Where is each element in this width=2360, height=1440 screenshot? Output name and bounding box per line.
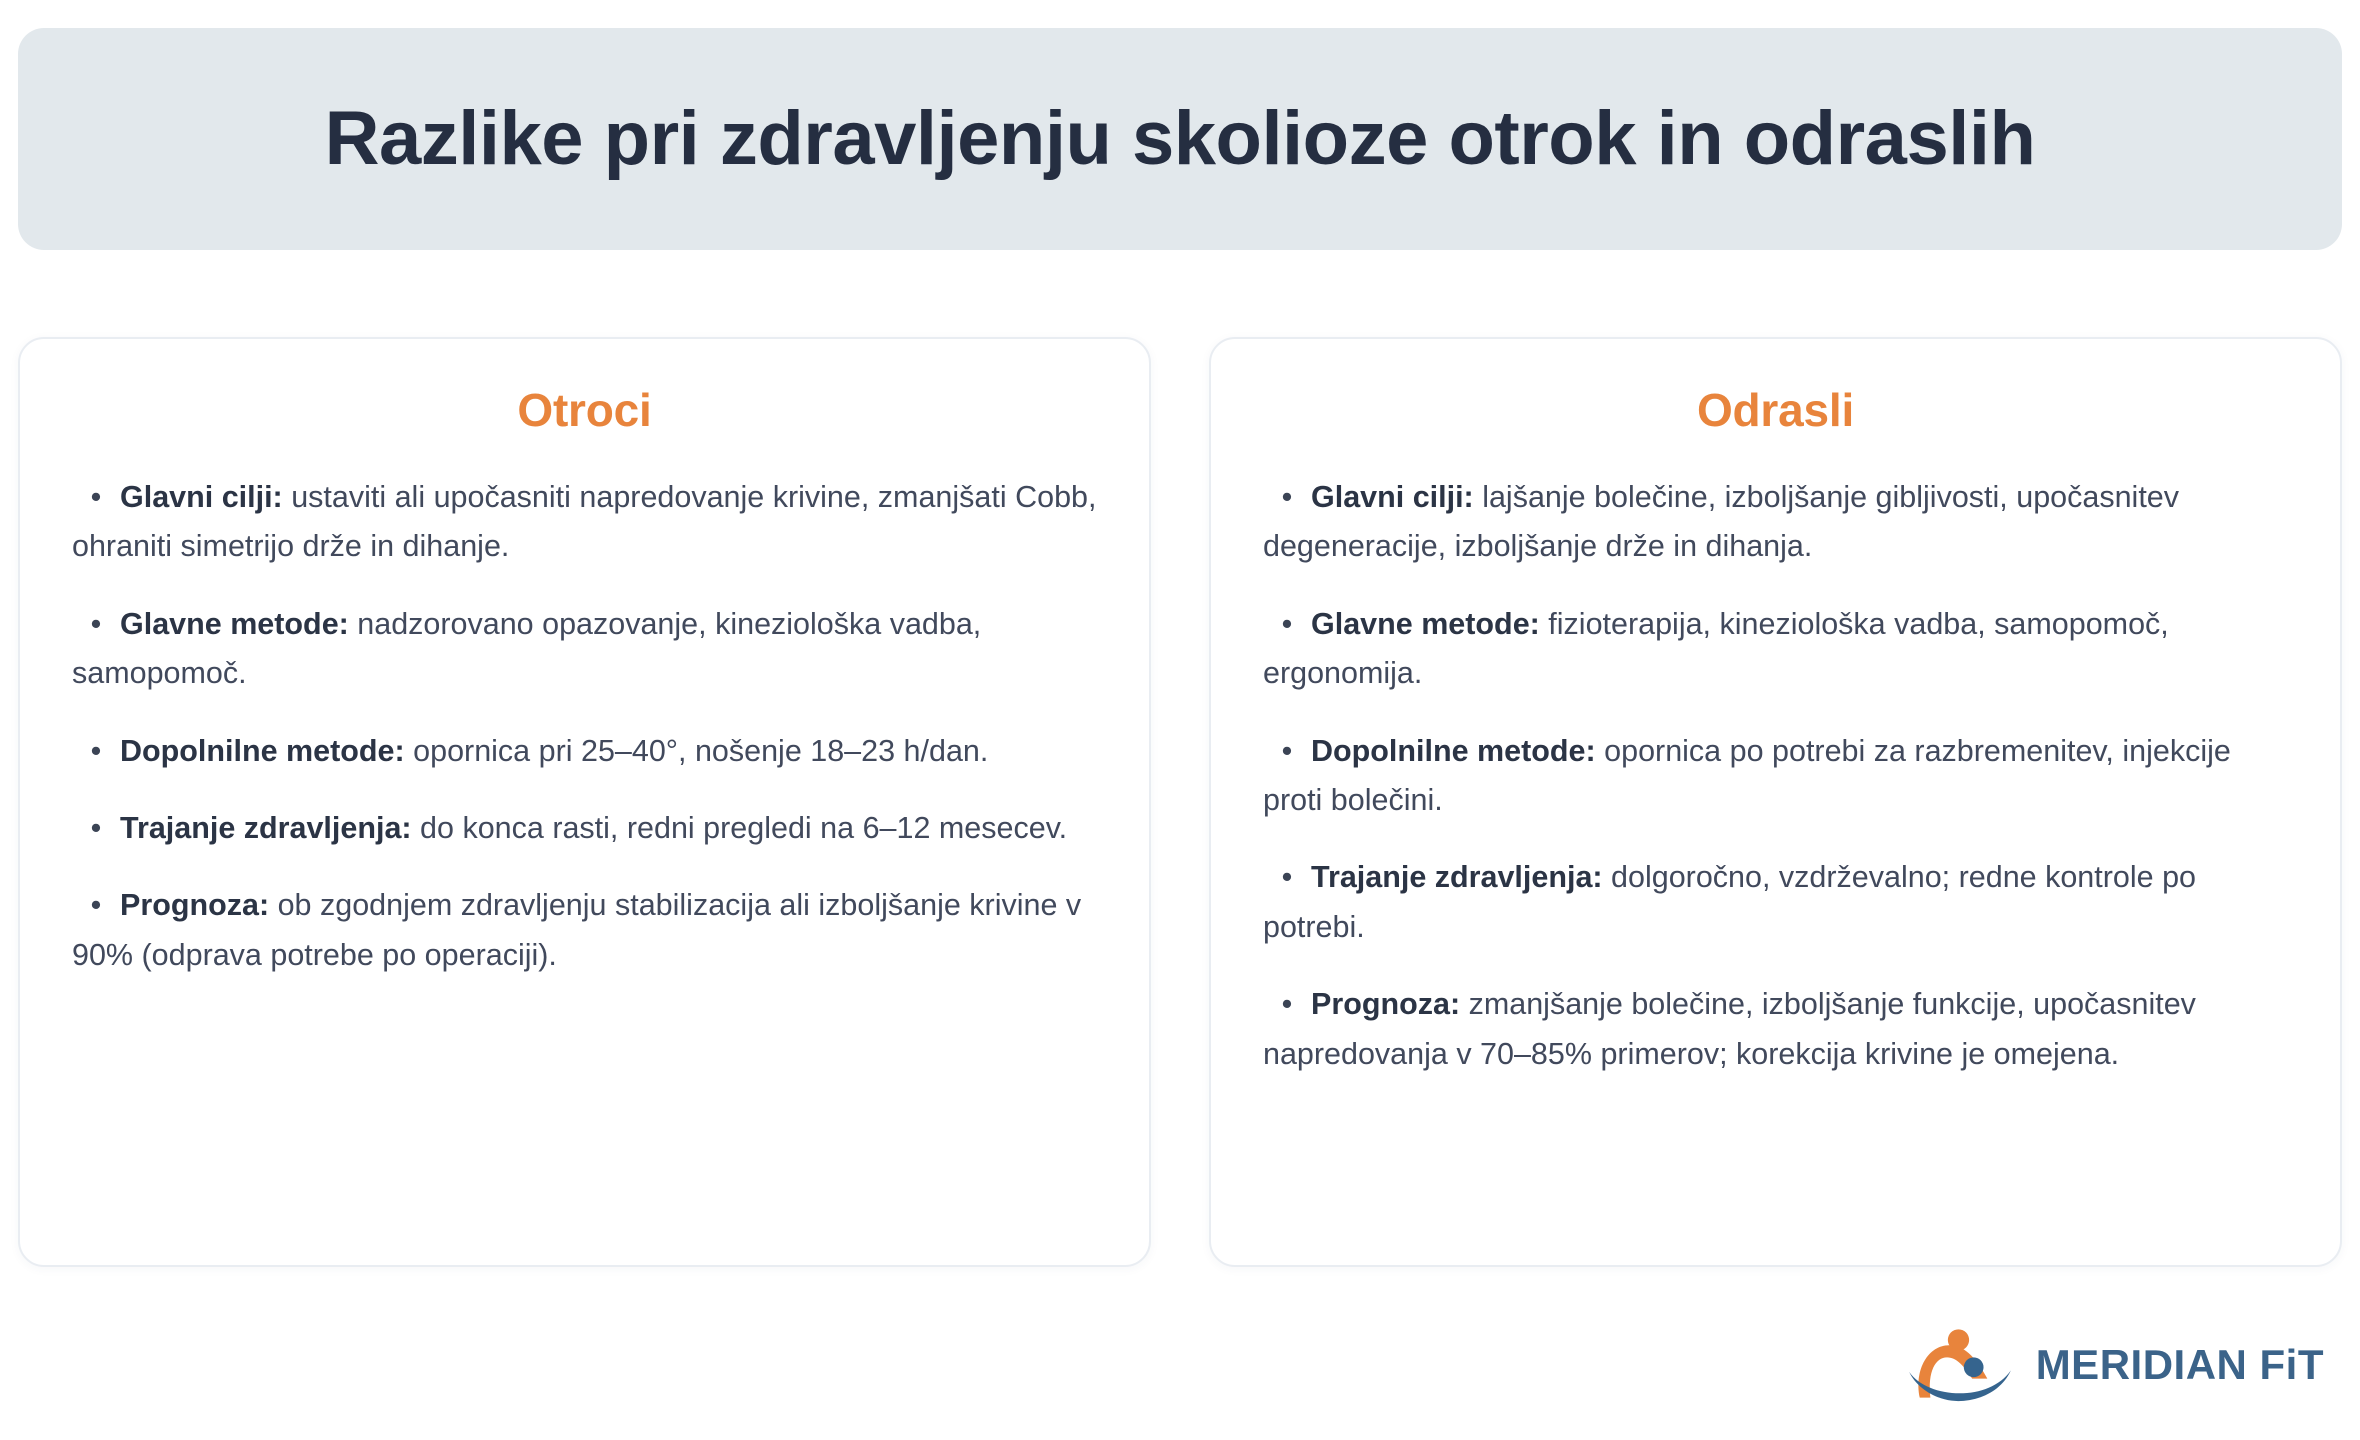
card-title-odrasli: Odrasli xyxy=(1263,383,2288,437)
bullet-dot-icon: • xyxy=(72,473,120,522)
header-banner: Razlike pri zdravljenju skolioze otrok i… xyxy=(18,28,2342,250)
bullet-dot-icon: • xyxy=(1263,853,1311,902)
list-item: •Dopolnilne metode: opornica po potrebi … xyxy=(1263,727,2288,826)
list-item: •Trajanje zdravljenja: dolgoročno, vzdrž… xyxy=(1263,853,2288,952)
list-item-text: opornica pri 25–40°, nošenje 18–23 h/dan… xyxy=(405,734,989,768)
list-item-lead: Trajanje zdravljenja: xyxy=(120,811,412,845)
bullet-dot-icon: • xyxy=(1263,980,1311,1029)
bullet-dot-icon: • xyxy=(1263,600,1311,649)
list-item: •Glavne metode: fizioterapija, kineziolo… xyxy=(1263,600,2288,699)
brand-logo: MERIDIAN FiT xyxy=(1906,1324,2324,1406)
bullet-dot-icon: • xyxy=(72,804,120,853)
infographic-page: Razlike pri zdravljenju skolioze otrok i… xyxy=(0,0,2360,1440)
bullet-list-odrasli: •Glavni cilji: lajšanje bolečine, izbolj… xyxy=(1263,473,2288,1079)
comparison-cards: Otroci •Glavni cilji: ustaviti ali upoča… xyxy=(18,337,2342,1267)
meridian-fit-logo-icon xyxy=(1906,1324,2014,1406)
list-item: •Dopolnilne metode: opornica pri 25–40°,… xyxy=(72,727,1097,776)
list-item-lead: Prognoza: xyxy=(120,888,269,922)
list-item-text: do konca rasti, redni pregledi na 6–12 m… xyxy=(412,811,1068,845)
list-item: •Prognoza: zmanjšanje bolečine, izboljša… xyxy=(1263,980,2288,1079)
bullet-dot-icon: • xyxy=(72,600,120,649)
list-item-lead: Glavni cilji: xyxy=(1311,480,1474,514)
bullet-dot-icon: • xyxy=(72,727,120,776)
brand-name: MERIDIAN FiT xyxy=(2036,1341,2324,1389)
list-item-lead: Glavni cilji: xyxy=(120,480,283,514)
list-item: •Glavni cilji: ustaviti ali upočasniti n… xyxy=(72,473,1097,572)
list-item: •Glavni cilji: lajšanje bolečine, izbolj… xyxy=(1263,473,2288,572)
list-item-lead: Glavne metode: xyxy=(120,607,349,641)
list-item: •Trajanje zdravljenja: do konca rasti, r… xyxy=(72,804,1097,853)
list-item-lead: Glavne metode: xyxy=(1311,607,1540,641)
card-title-otroci: Otroci xyxy=(72,383,1097,437)
page-title: Razlike pri zdravljenju skolioze otrok i… xyxy=(325,97,2036,181)
card-otroci: Otroci •Glavni cilji: ustaviti ali upoča… xyxy=(18,337,1151,1267)
list-item-lead: Trajanje zdravljenja: xyxy=(1311,860,1603,894)
card-odrasli: Odrasli •Glavni cilji: lajšanje bolečine… xyxy=(1209,337,2342,1267)
list-item: •Prognoza: ob zgodnjem zdravljenju stabi… xyxy=(72,881,1097,980)
bullet-dot-icon: • xyxy=(1263,727,1311,776)
list-item: •Glavne metode: nadzorovano opazovanje, … xyxy=(72,600,1097,699)
list-item-lead: Dopolnilne metode: xyxy=(120,734,405,768)
list-item-lead: Dopolnilne metode: xyxy=(1311,734,1596,768)
bullet-dot-icon: • xyxy=(1263,473,1311,522)
bullet-dot-icon: • xyxy=(72,881,120,930)
list-item-lead: Prognoza: xyxy=(1311,987,1460,1021)
bullet-list-otroci: •Glavni cilji: ustaviti ali upočasniti n… xyxy=(72,473,1097,980)
